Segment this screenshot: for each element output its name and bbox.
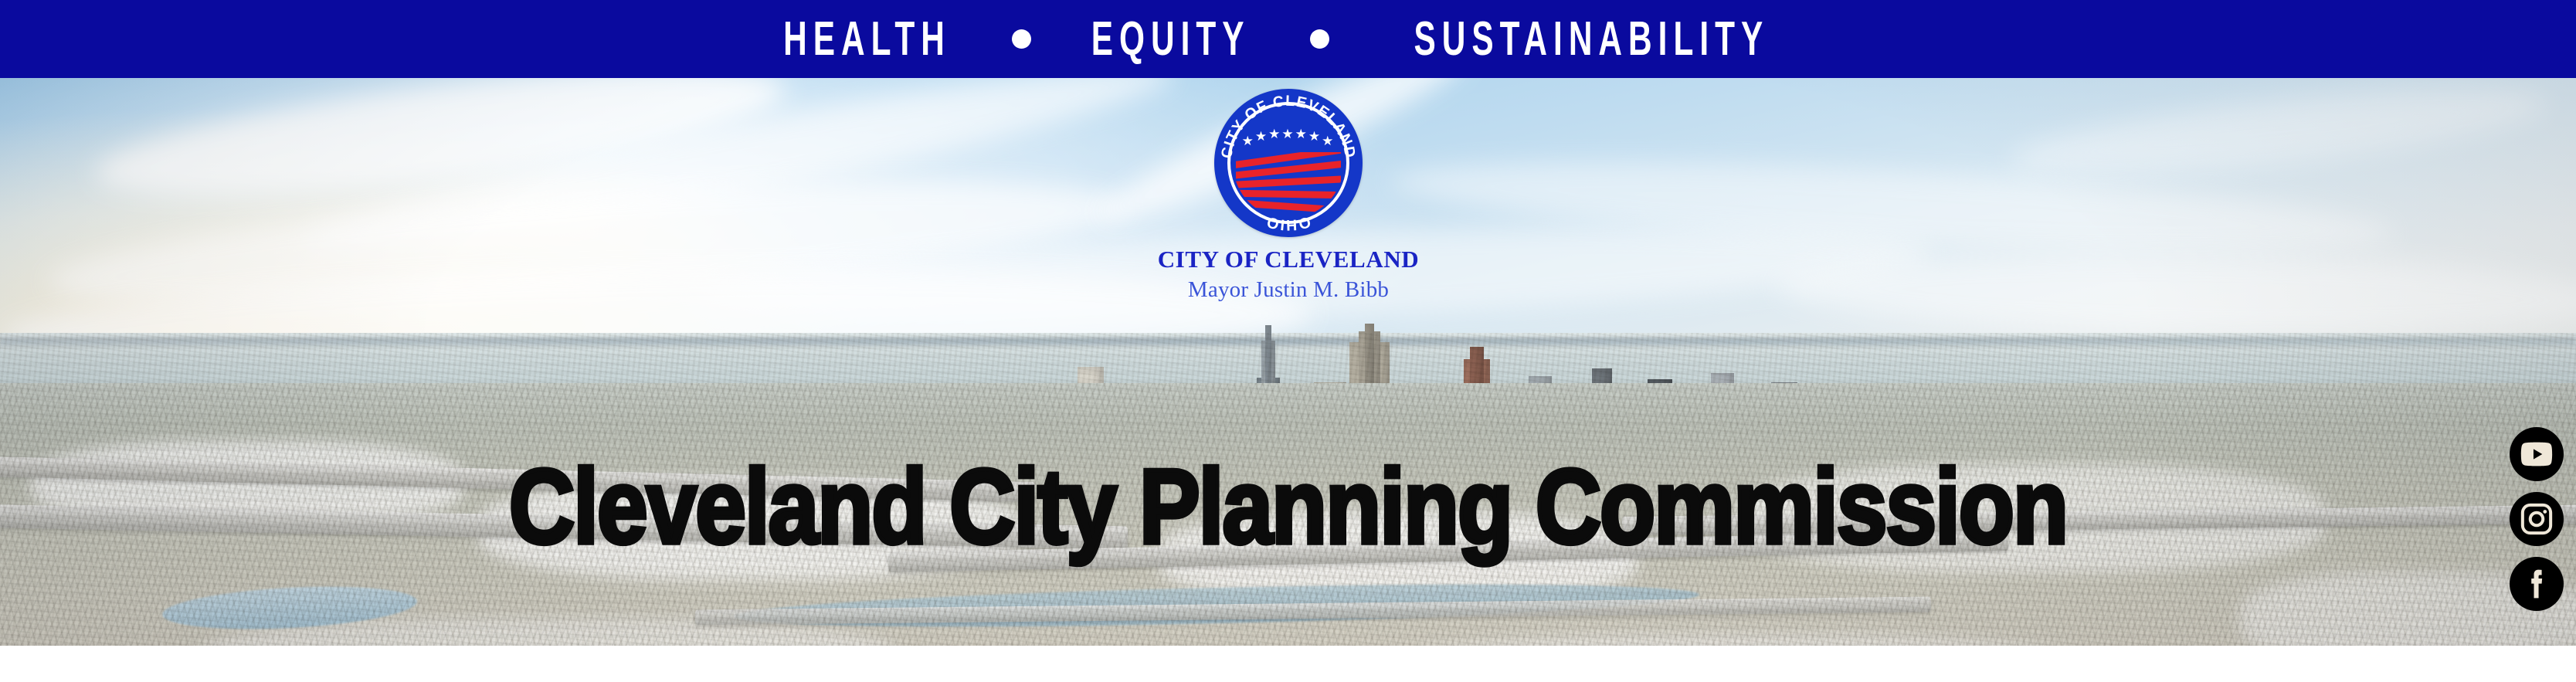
tagline-banner: HEALTH EQUITY SUSTAINABILITY xyxy=(0,0,2576,78)
tagline-word-health: HEALTH xyxy=(783,15,951,63)
city-of-cleveland-seal-icon: ★★★★★★★ CITY OF CLEVELAND xyxy=(1214,89,1363,237)
social-links xyxy=(2509,427,2564,611)
city-identity-block: ★★★★★★★ CITY OF CLEVELAND xyxy=(1049,89,1528,321)
tagline-banner-inner: HEALTH EQUITY SUSTAINABILITY xyxy=(762,19,1814,59)
instagram-icon[interactable] xyxy=(2510,492,2564,546)
seal-inner-disc: ★★★★★★★ xyxy=(1233,107,1344,219)
seal-flag-icon xyxy=(1236,152,1341,215)
bottom-white-strip xyxy=(0,646,2576,682)
bullet-dot-icon xyxy=(1012,29,1031,49)
bullet-dot-icon xyxy=(1310,29,1329,49)
city-name-label: CITY OF CLEVELAND xyxy=(1049,246,1528,273)
mayor-name-label: Mayor Justin M. Bibb xyxy=(1049,277,1528,303)
tagline-word-sustainability: SUSTAINABILITY xyxy=(1414,15,1770,63)
seal-stars: ★★★★★★★ xyxy=(1233,127,1344,141)
page-root: HEALTH EQUITY SUSTAINABILITY xyxy=(0,0,2576,682)
tagline-word-equity: EQUITY xyxy=(1091,15,1251,63)
youtube-icon[interactable] xyxy=(2510,427,2564,481)
facebook-icon[interactable] xyxy=(2510,557,2564,611)
page-title: Cleveland City Planning Commission xyxy=(0,454,2576,560)
